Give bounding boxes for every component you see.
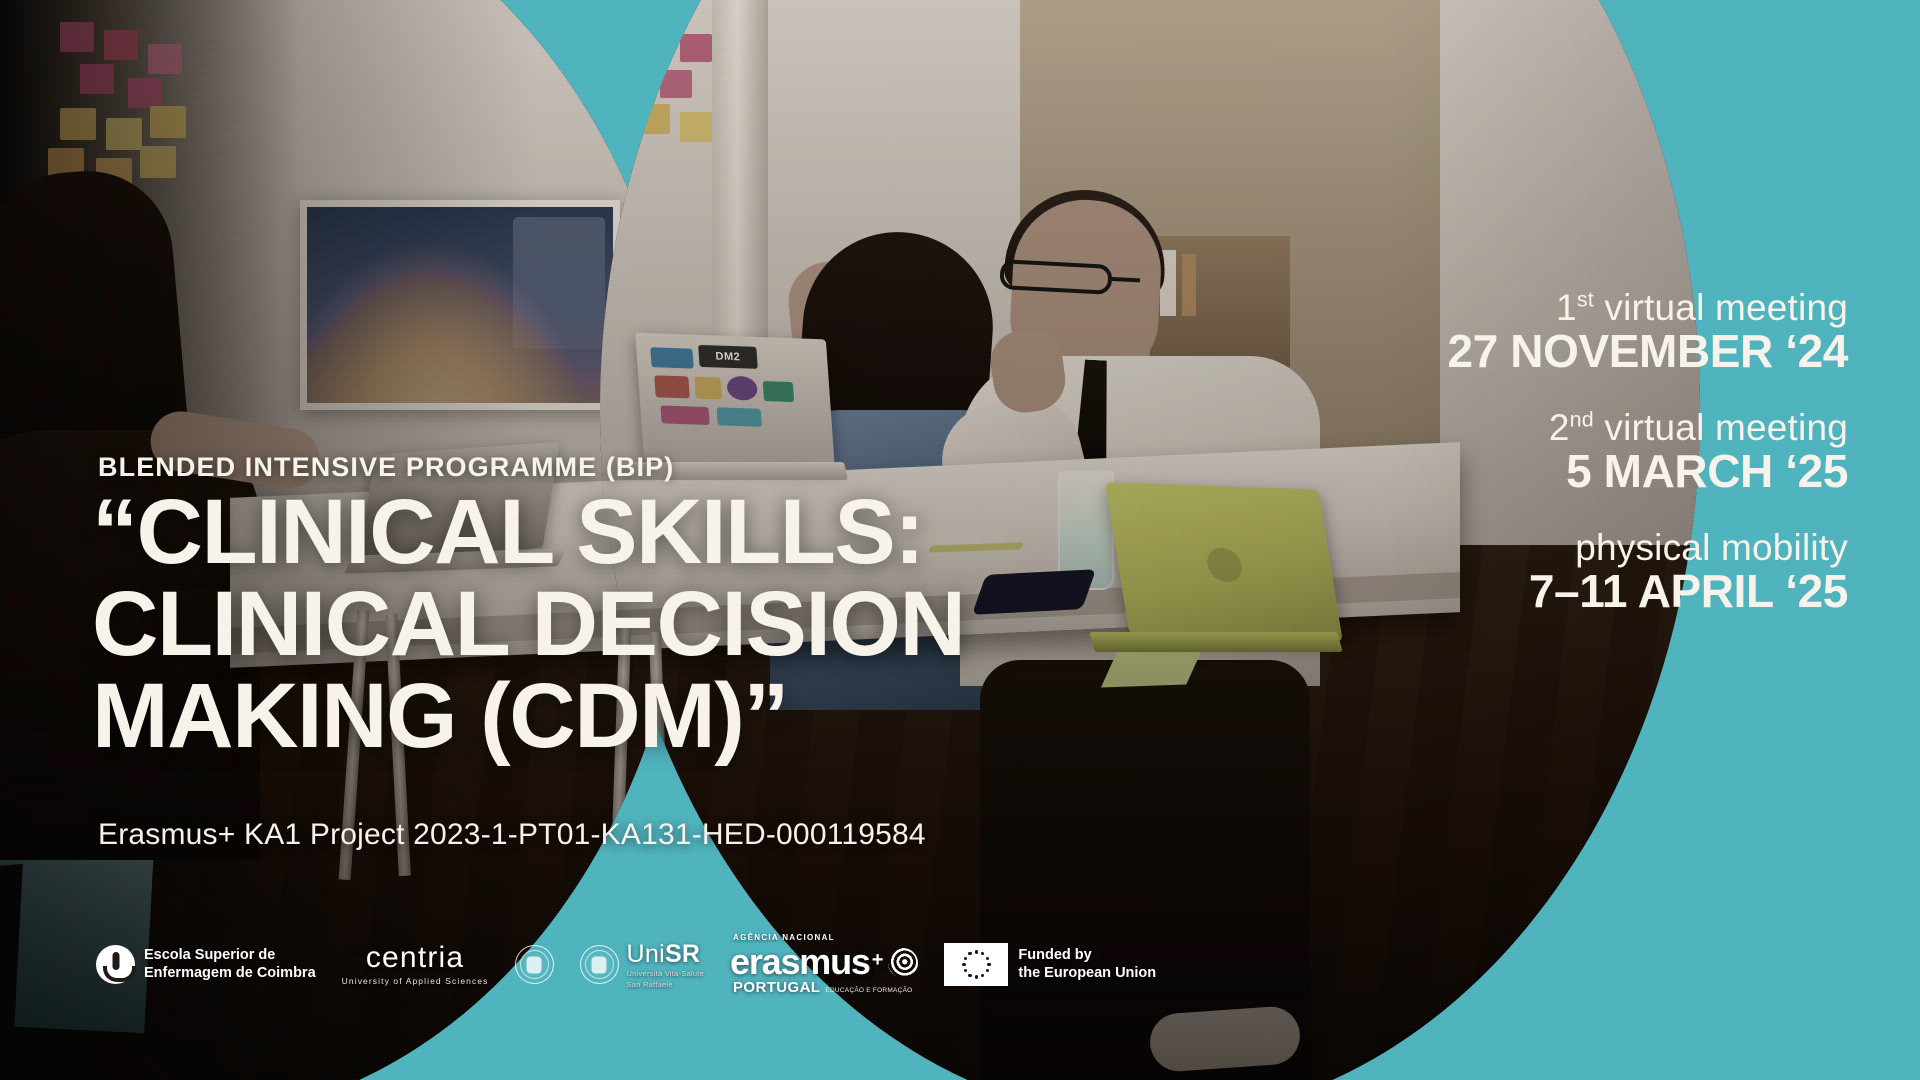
logo-unisr-uni: Uni <box>627 940 665 968</box>
partner-logo-bar: Escola Superior de Enfermagem de Coimbra… <box>96 933 1156 996</box>
eu-star-icon <box>964 969 967 972</box>
poster-root: DM2 <box>0 0 1920 1080</box>
ordinal-suffix-2: nd <box>1570 408 1594 432</box>
schedule-label-2: 2nd virtual meeting <box>1448 408 1848 447</box>
logo-centria-word: centria <box>342 943 489 973</box>
ordinal-number-2: 2 <box>1549 407 1570 448</box>
logo-unisr-word: UniSR <box>627 940 704 968</box>
ordinal-number-1: 1 <box>1556 287 1577 328</box>
eu-star-icon <box>975 975 978 978</box>
schedule-item-2: 2nd virtual meeting 5 MARCH ‘25 <box>1448 408 1848 496</box>
logo-eu-text: Funded by the European Union <box>1018 947 1156 982</box>
logo-erasmus-word: erasmus <box>730 947 870 978</box>
schedule-label-rest-1: virtual meeting <box>1594 287 1848 328</box>
logo-eu: Funded by the European Union <box>944 943 1156 986</box>
logo-erasmus: AGÊNCIA NACIONAL erasmus + PORTUGAL EDUC… <box>730 933 918 996</box>
schedule-label-1: 1st virtual meeting <box>1448 288 1848 327</box>
schedule-label-3: physical mobility <box>1448 528 1848 567</box>
schedule-value-1: 27 NOVEMBER ‘24 <box>1448 327 1848 376</box>
logo-erasmus-main: erasmus + <box>730 942 918 978</box>
eu-star-icon <box>981 974 984 977</box>
logo-unisr-text: UniSR Università Vita-Salute San Raffael… <box>627 940 704 989</box>
eu-star-icon <box>968 952 971 955</box>
logo-eu-line2: the European Union <box>1018 965 1156 983</box>
erasmus-swirl-icon <box>888 948 918 978</box>
logo-unisr-sr: SR <box>665 940 700 968</box>
eu-star-icon <box>964 957 967 960</box>
vitruvian-seal-icon <box>580 945 619 984</box>
project-code: Erasmus+ KA1 Project 2023-1-PT01-KA131-H… <box>98 818 926 852</box>
schedule-panel: 1st virtual meeting 27 NOVEMBER ‘24 2nd … <box>1448 288 1848 616</box>
headline-line-1: “CLINICAL SKILLS: <box>92 486 1152 578</box>
page-title: “CLINICAL SKILLS: CLINICAL DECISION MAKI… <box>92 486 1152 762</box>
logo-unisr-sub1: Università Vita-Salute <box>627 970 704 978</box>
logo-esec-line1: Escola Superior de <box>144 947 316 964</box>
headline-line-3: MAKING (CDM)” <box>92 670 1152 762</box>
logo-centria-sub: University of Applied Sciences <box>342 976 489 986</box>
logo-erasmus-tag: EDUCAÇÃO E FORMAÇÃO <box>825 987 912 994</box>
eu-star-icon <box>987 963 990 966</box>
schedule-value-3: 7–11 APRIL ‘25 <box>1448 567 1848 616</box>
logo-esec-text: Escola Superior de Enfermagem de Coimbra <box>144 947 316 982</box>
headline-line-2: CLINICAL DECISION <box>92 578 1152 670</box>
lamp-emblem-icon <box>96 945 135 984</box>
university-seal-icon <box>515 945 554 984</box>
eu-star-icon <box>986 969 989 972</box>
logo-unisr: UniSR Università Vita-Salute San Raffael… <box>580 940 704 989</box>
eu-star-icon <box>975 950 978 953</box>
schedule-item-1: 1st virtual meeting 27 NOVEMBER ‘24 <box>1448 288 1848 376</box>
eu-star-icon <box>981 952 984 955</box>
eu-flag-icon <box>944 943 1008 986</box>
eu-star-icon <box>962 963 965 966</box>
logo-centria: centria University of Applied Sciences <box>342 943 489 986</box>
schedule-label-rest-2: virtual meeting <box>1594 407 1848 448</box>
logo-erasmus-plus: + <box>872 942 884 978</box>
schedule-value-2: 5 MARCH ‘25 <box>1448 447 1848 496</box>
schedule-item-3: physical mobility 7–11 APRIL ‘25 <box>1448 528 1848 616</box>
ordinal-suffix-1: st <box>1577 288 1594 312</box>
logo-eu-line1: Funded by <box>1018 947 1156 965</box>
eyebrow-label: BLENDED INTENSIVE PROGRAMME (BIP) <box>98 452 674 483</box>
eu-star-icon <box>968 974 971 977</box>
logo-esec: Escola Superior de Enfermagem de Coimbra <box>96 945 316 984</box>
logo-erasmus-country: PORTUGAL <box>733 979 820 996</box>
logo-unisr-sub2: San Raffaele <box>627 981 704 989</box>
logo-esec-line2: Enfermagem de Coimbra <box>144 965 316 982</box>
eu-star-icon <box>986 957 989 960</box>
